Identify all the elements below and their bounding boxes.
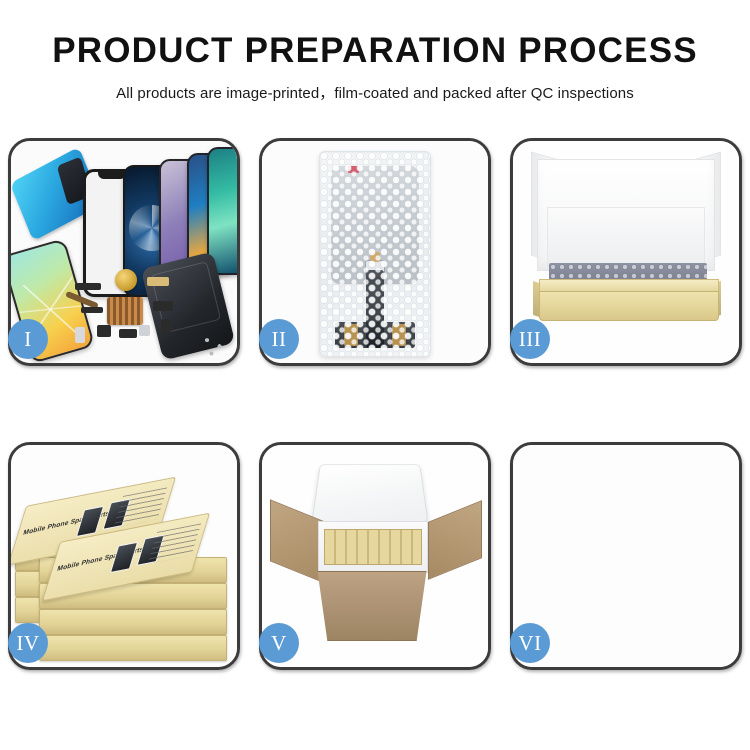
- stacked-box: [39, 635, 227, 661]
- gold-boxes-inside: [324, 529, 422, 565]
- step-badge-2: II: [259, 319, 299, 359]
- small-part: [161, 319, 171, 333]
- foam-sheet: [547, 207, 705, 267]
- small-part: [75, 283, 101, 290]
- foam-lid: [311, 464, 428, 522]
- step-badge-6: VI: [510, 623, 550, 663]
- product-preparation-page: PRODUCT PREPARATION PROCESS All products…: [0, 0, 750, 750]
- box-product-photo: [76, 506, 104, 538]
- carton-body: [310, 571, 434, 641]
- process-step-panel-6: VI: [510, 442, 742, 670]
- stacked-box: [39, 609, 227, 635]
- coil-part-icon: [115, 269, 137, 291]
- process-step-panel-1: I: [8, 138, 240, 366]
- process-step-grid: I II: [8, 138, 742, 670]
- screws-icon: [201, 333, 231, 357]
- process-step-panel-3: III: [510, 138, 742, 366]
- step-badge-1: I: [8, 319, 48, 359]
- small-part: [97, 325, 111, 337]
- step-badge-5: V: [259, 623, 299, 663]
- page-subtitle: All products are image-printed，film-coat…: [0, 82, 750, 103]
- process-step-panel-5: V: [259, 442, 491, 670]
- step-badge-4: IV: [8, 623, 48, 663]
- small-part: [139, 325, 150, 336]
- small-part: [153, 301, 173, 311]
- page-title: PRODUCT PREPARATION PROCESS: [0, 32, 750, 71]
- process-step-panel-2: II: [259, 138, 491, 366]
- chip-part-icon: [107, 297, 143, 325]
- box-spec-lines: [147, 523, 201, 563]
- process-step-panel-4: Mobile Phone Spare Parts Mobile Phone Sp…: [8, 442, 240, 670]
- gold-tray-front: [539, 291, 719, 321]
- small-part: [119, 329, 137, 338]
- small-part: [75, 327, 85, 343]
- bubble-wrap-bag: [319, 151, 431, 357]
- bubble-texture: [320, 152, 430, 356]
- page-header: PRODUCT PREPARATION PROCESS All products…: [0, 0, 750, 103]
- step-badge-3: III: [510, 319, 550, 359]
- box-product-photo: [110, 542, 138, 574]
- small-part: [81, 307, 103, 313]
- small-part: [147, 277, 169, 286]
